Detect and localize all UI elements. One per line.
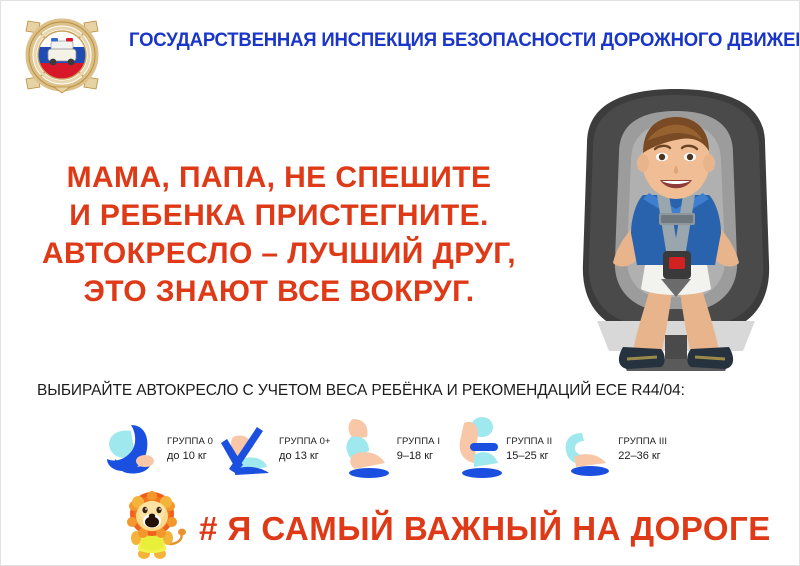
group-weight: 22–36 кг: [618, 449, 667, 464]
child-in-car-seat-photo: [557, 83, 795, 371]
group-item: ГРУППА III 22–36 кг: [552, 413, 667, 485]
page-title: ГОСУДАРСТВЕННАЯ ИНСПЕКЦИЯ БЕЗОПАСНОСТИ Д…: [129, 29, 756, 52]
group-weight: до 10 кг: [167, 449, 213, 464]
group-text: ГРУППА 0 до 10 кг: [167, 435, 213, 464]
group-weight: до 13 кг: [279, 449, 331, 464]
lion-mascot-icon: [115, 490, 191, 562]
slogan-text: МАМА, ПАПА, НЕ СПЕШИТЕ И РЕБЕНКА ПРИСТЕГ…: [9, 159, 549, 311]
group-text: ГРУППА III 22–36 кг: [618, 435, 667, 464]
group-name: ГРУППА II: [506, 435, 552, 449]
group-weight: 9–18 кг: [397, 449, 440, 464]
patrol-car-icon: [48, 38, 76, 65]
group-name: ГРУППА 0+: [279, 435, 331, 449]
carrier-0plus-icon: [213, 415, 275, 483]
poster-root: ГОСУДАРСТВЕННАЯ ИНСПЕКЦИЯ БЕЗОПАСНОСТИ Д…: [0, 0, 800, 566]
group-text: ГРУППА II 15–25 кг: [506, 435, 552, 464]
seat-2-icon: [440, 415, 502, 483]
group-item: ГРУППА II 15–25 кг: [440, 413, 552, 485]
slogan-line-2: И РЕБЕНКА ПРИСТЕГНИТЕ.: [9, 197, 549, 235]
slogan-line-1: МАМА, ПАПА, НЕ СПЕШИТЕ: [9, 159, 549, 197]
slogan-line-4: ЭТО ЗНАЮТ ВСЕ ВОКРУГ.: [9, 273, 549, 311]
group-item: ГРУППА 0 до 10 кг: [101, 413, 213, 485]
group-item: ГРУППА I 9–18 кг: [331, 413, 440, 485]
car-seat-groups-row: ГРУППА 0 до 10 кг ГРУППА 0+ до 13 кг: [101, 413, 761, 485]
group-item: ГРУППА 0+ до 13 кг: [213, 413, 331, 485]
group-text: ГРУППА 0+ до 13 кг: [279, 435, 331, 464]
instruction-text: ВЫБИРАЙТЕ АВТОКРЕСЛО С УЧЕТОМ ВЕСА РЕБЁН…: [37, 382, 777, 400]
group-name: ГРУППА 0: [167, 435, 213, 449]
seat-1-icon: [331, 415, 393, 483]
slogan-line-3: АВТОКРЕСЛО – ЛУЧШИЙ ДРУГ,: [9, 235, 549, 273]
gibdd-emblem-icon: [18, 13, 106, 97]
group-weight: 15–25 кг: [506, 449, 552, 464]
carrier-0-icon: [101, 415, 163, 483]
hashtag-text: # Я САМЫЙ ВАЖНЫЙ НА ДОРОГЕ: [199, 509, 779, 549]
booster-3-icon: [552, 415, 614, 483]
group-name: ГРУППА III: [618, 435, 667, 449]
group-name: ГРУППА I: [397, 435, 440, 449]
group-text: ГРУППА I 9–18 кг: [397, 435, 440, 464]
